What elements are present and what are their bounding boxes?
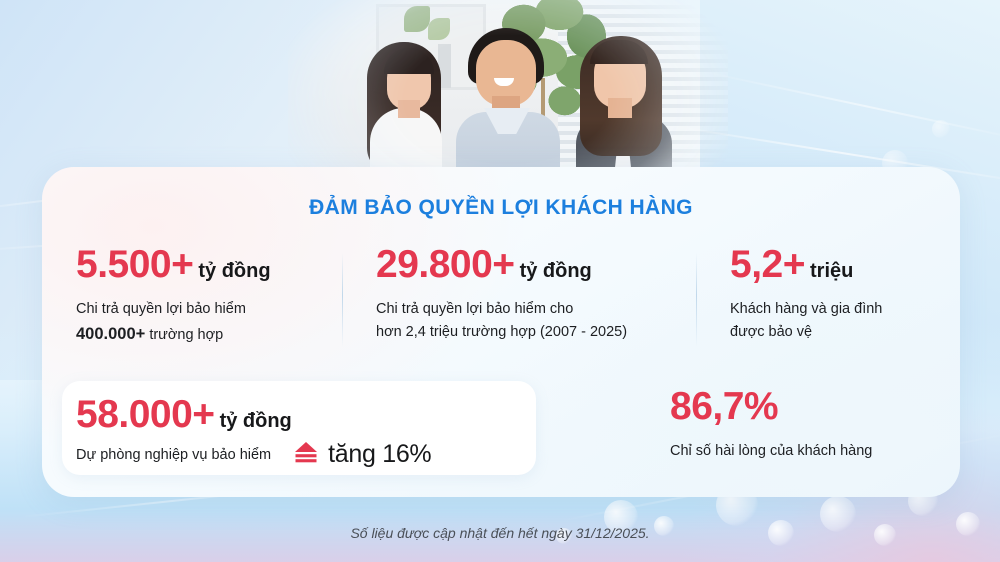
stat-headline: 5,2+triệu bbox=[730, 245, 960, 284]
stat-description-line: Khách hàng và gia đình bbox=[730, 298, 960, 321]
footer-note: Số liệu được cập nhật đến hết ngày 31/12… bbox=[0, 525, 1000, 541]
stat-value: 5.500+ bbox=[76, 243, 193, 286]
stat-value: 29.800+ bbox=[376, 243, 515, 286]
stat-block-satisfaction: 86,7% Chỉ số hài lòng của khách hàng bbox=[670, 387, 872, 459]
stat-block-reserve: 58.000+tỷ đồng Dự phòng nghiệp vụ bảo hi… bbox=[62, 381, 536, 475]
stat-block-cumulative-claims: 29.800+tỷ đồng Chi trả quyền lợi bảo hiể… bbox=[342, 245, 696, 365]
stat-description: Khách hàng và gia đình được bảo vệ bbox=[730, 298, 960, 344]
growth-label: tăng 16% bbox=[328, 440, 431, 469]
photo-shelf-plant bbox=[404, 6, 430, 32]
stat-block-claims-paid: 5.500+tỷ đồng Chi trả quyền lợi bảo hiểm… bbox=[42, 245, 342, 365]
stat-description-line: được bảo vệ bbox=[730, 321, 960, 344]
stat-description: Chi trả quyền lợi bảo hiểm cho hơn 2,4 t… bbox=[376, 298, 696, 344]
stat-unit: triệu bbox=[810, 260, 853, 282]
photo-shelf-plant bbox=[428, 18, 450, 40]
stat-description-line: 400.000+ trường hợp bbox=[76, 321, 342, 347]
stat-description-line: Chi trả quyền lợi bảo hiểm cho bbox=[376, 298, 696, 321]
stat-description: Dự phòng nghiệp vụ bảo hiểm bbox=[76, 447, 271, 463]
stat-description-strong: 400.000+ bbox=[76, 325, 145, 343]
stat-headline: 5.500+tỷ đồng bbox=[76, 245, 342, 284]
rising-arrow-icon bbox=[293, 439, 319, 470]
stats-row-bottom: 58.000+tỷ đồng Dự phòng nghiệp vụ bảo hi… bbox=[42, 381, 960, 481]
stat-value: 58.000+ bbox=[76, 393, 215, 436]
stats-row-top: 5.500+tỷ đồng Chi trả quyền lợi bảo hiểm… bbox=[42, 245, 960, 365]
stat-description-line: hơn 2,4 triệu trường hợp (2007 - 2025) bbox=[376, 321, 696, 344]
stats-card: ĐẢM BẢO QUYỀN LỢI KHÁCH HÀNG 5.500+tỷ đồ… bbox=[42, 167, 960, 497]
stat-description: Chỉ số hài lòng của khách hàng bbox=[670, 443, 872, 459]
stat-headline: 58.000+tỷ đồng bbox=[76, 395, 292, 434]
column-divider bbox=[696, 253, 697, 347]
bokeh-circle bbox=[932, 120, 950, 138]
stat-unit: tỷ đồng bbox=[198, 260, 270, 282]
stat-unit: tỷ đồng bbox=[520, 260, 592, 282]
stat-value: 5,2+ bbox=[730, 243, 805, 286]
stat-block-customers-protected: 5,2+triệu Khách hàng và gia đình được bả… bbox=[696, 245, 960, 365]
photo-person-left-neck bbox=[398, 100, 420, 118]
stat-description-rest: trường hợp bbox=[149, 327, 223, 343]
photo-person-right-neck bbox=[608, 98, 632, 118]
stat-headline: 29.800+tỷ đồng bbox=[376, 245, 696, 284]
page-title: ĐẢM BẢO QUYỀN LỢI KHÁCH HÀNG bbox=[42, 196, 960, 220]
stat-value: 86,7% bbox=[670, 387, 872, 426]
column-divider bbox=[342, 253, 343, 347]
stat-unit: tỷ đồng bbox=[220, 410, 292, 432]
stat-description: Chi trả quyền lợi bảo hiểm 400.000+ trườ… bbox=[76, 298, 342, 347]
stat-description-line: Chi trả quyền lợi bảo hiểm bbox=[76, 298, 342, 321]
stat-description-row: Dự phòng nghiệp vụ bảo hiểm tăng 16% bbox=[76, 439, 431, 470]
